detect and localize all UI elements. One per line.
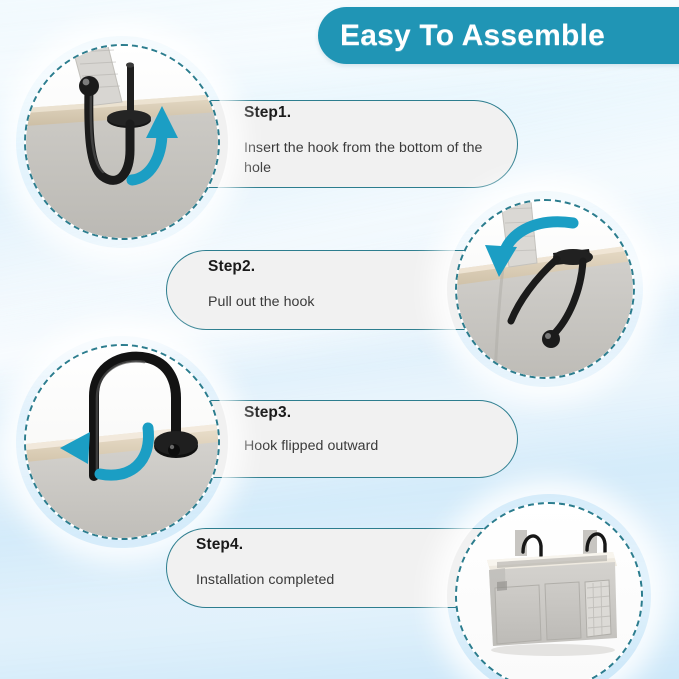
step-4-photo-graphic [457,504,641,679]
step-2-description: Pull out the hook [208,292,458,312]
page-title: Easy To Assemble [340,19,605,53]
step-4-description: Installation completed [196,570,446,590]
step-1-description: Insert the hook from the bottom of the h… [244,138,484,178]
step-3-photo-graphic [26,346,218,538]
step-4-photo [455,502,643,679]
step-2-photo [455,199,635,379]
step-2-title: Step2. [208,258,255,276]
step-2-photo-graphic [457,201,633,377]
step-1-title: Step1. [244,104,291,122]
step-1-photo-graphic [26,46,218,238]
step-3-photo [24,344,220,540]
step-4-title: Step4. [196,536,243,554]
header-banner: Easy To Assemble [318,7,679,64]
step-3-description: Hook flipped outward [244,436,494,456]
infographic-canvas: Easy To Assemble Step1. Insert the hook … [0,0,679,679]
step-1-photo [24,44,220,240]
step-3-title: Step3. [244,404,291,422]
